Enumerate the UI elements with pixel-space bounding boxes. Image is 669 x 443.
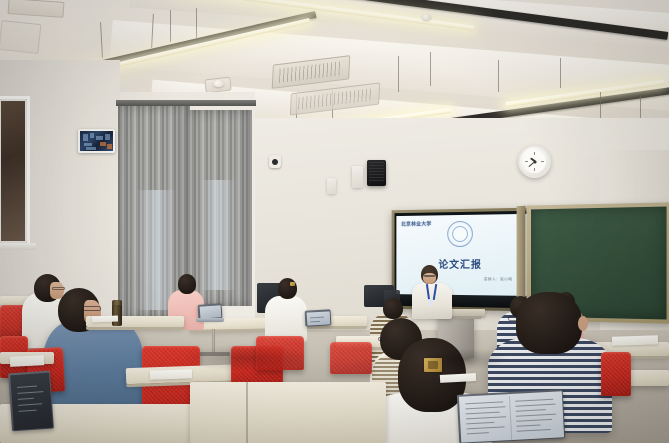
laptop[interactable] (8, 371, 54, 432)
light-hanger-wire (196, 8, 197, 38)
university-logo-text: 北京林业大学 (401, 220, 431, 227)
wall-display-screen (80, 131, 113, 151)
desk-seam (246, 382, 248, 443)
wall-display[interactable] (78, 129, 115, 153)
smoke-detector (422, 14, 431, 20)
laptop[interactable] (305, 309, 332, 326)
wall-junction-box (352, 166, 363, 188)
smoke-detector (213, 80, 224, 87)
wall-clock (518, 145, 551, 178)
hair-tie (290, 282, 295, 286)
window-sill (0, 243, 36, 250)
student-head (516, 292, 582, 354)
light-hanger-wire (560, 58, 561, 88)
laptop-screen (10, 372, 53, 430)
laptop-screen (199, 305, 221, 318)
wall-junction-box (327, 178, 336, 194)
slide-title: 论文汇报 (396, 256, 526, 271)
light-hanger-wire (430, 52, 431, 86)
ceiling-panel (0, 20, 41, 54)
classroom-photo: 北京林业大学 论文汇报 答辩人：张小明 (0, 0, 669, 443)
slide-subtitle: 答辩人：张小明 (484, 277, 512, 282)
handout (612, 335, 658, 346)
desk (190, 382, 386, 443)
travel-mug-lid (112, 300, 122, 305)
glasses-icon (508, 316, 520, 321)
laptop-keyboard[interactable] (196, 318, 224, 322)
light-hanger-wire (398, 56, 399, 92)
presenter-glasses-icon (424, 275, 435, 277)
presenter-badge (428, 299, 433, 306)
university-seal-icon (447, 221, 473, 247)
student-ear (578, 316, 588, 331)
laptop-screen (306, 311, 330, 325)
glasses-icon (52, 287, 65, 290)
curtain-rail (116, 100, 256, 106)
window (0, 96, 30, 246)
handout (92, 316, 118, 323)
student-head (383, 298, 403, 319)
floor-shadow (420, 348, 510, 370)
chair[interactable] (601, 352, 631, 396)
presentation-slide: 北京林业大学 论文汇报 答辩人：张小明 (396, 214, 526, 296)
wall-speaker (367, 160, 386, 186)
chair[interactable] (330, 342, 372, 374)
handout (10, 355, 44, 367)
light-hanger-wire (498, 60, 499, 92)
floor-shadow (180, 344, 310, 372)
glasses-icon (378, 337, 388, 341)
curtain-panel-center (186, 110, 252, 306)
light-hanger-wire (170, 10, 171, 42)
security-camera (269, 155, 281, 168)
glasses-icon (82, 306, 101, 311)
student-head (178, 274, 196, 294)
